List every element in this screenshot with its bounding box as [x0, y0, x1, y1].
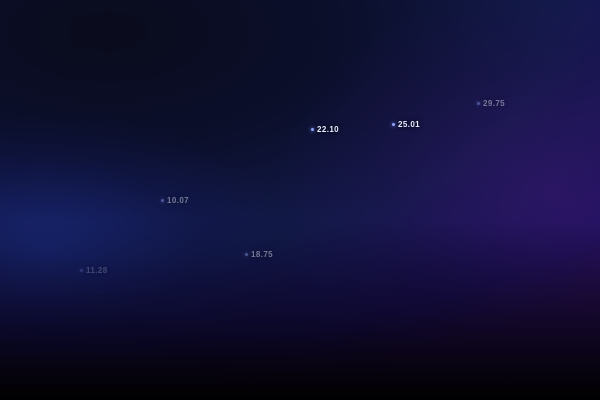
bottom-vignette: [0, 0, 600, 400]
price-tag-value: 11.28: [86, 266, 108, 275]
price-tag-value: 18.75: [251, 250, 273, 259]
price-tag-dot-icon: [245, 253, 248, 256]
price-tag: 18.75: [245, 250, 273, 259]
price-tag: 11.28: [80, 266, 108, 275]
price-tag-dot-icon: [161, 199, 164, 202]
price-tag-dot-icon: [392, 123, 395, 126]
price-tag: 29.75: [477, 99, 505, 108]
price-tag: 10.07: [161, 196, 189, 205]
price-tag-dot-icon: [311, 128, 314, 131]
price-tag: 22.10: [311, 125, 339, 134]
price-tag-dot-icon: [80, 269, 83, 272]
news-thumbnail: 22.1025.0129.7510.0718.7511.28 晟红网配资 伊朗外…: [0, 0, 600, 400]
price-tag-value: 22.10: [317, 125, 339, 134]
price-tag-dot-icon: [477, 102, 480, 105]
price-tag-value: 25.01: [398, 120, 420, 129]
price-tag-value: 29.75: [483, 99, 505, 108]
price-tag-value: 10.07: [167, 196, 189, 205]
price-tag: 25.01: [392, 120, 420, 129]
